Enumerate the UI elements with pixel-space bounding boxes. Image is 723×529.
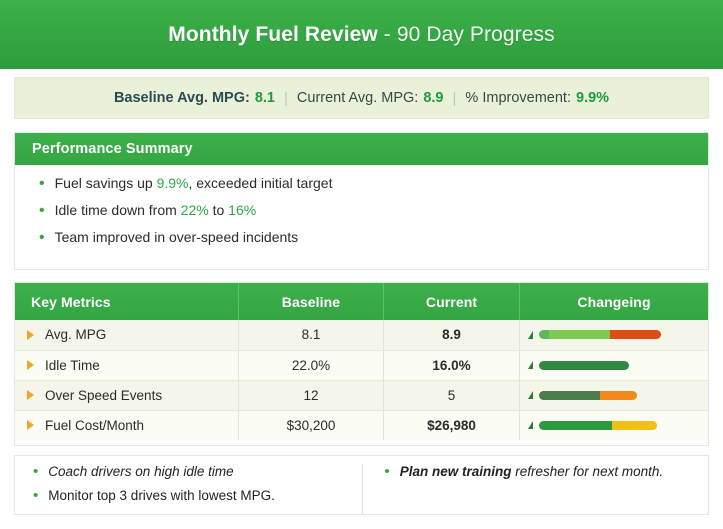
- note-text-rest: refresher for next month.: [512, 464, 664, 479]
- column-header-baseline[interactable]: Baseline: [239, 283, 384, 320]
- table-row: Idle Time 22.0% 16.0%: [15, 350, 708, 380]
- report-header: Monthly Fuel Review - 90 Day Progress: [0, 0, 723, 69]
- bullet-dot-icon: •: [33, 488, 38, 503]
- metric-label: Over Speed Events: [45, 388, 162, 403]
- row-marker-triangle-icon: [27, 330, 34, 340]
- row-current-value: 8.9: [384, 320, 520, 350]
- bullet-dot-icon: •: [39, 176, 45, 192]
- kpi-current-label: Current Avg. MPG:: [297, 90, 418, 106]
- metric-label: Fuel Cost/Month: [45, 418, 144, 433]
- page-title-sub: - 90 Day Progress: [378, 23, 555, 46]
- key-metrics-table: Key Metrics Baseline Current Changeing A…: [15, 283, 708, 440]
- summary-bullet-highlight: 22%: [181, 202, 209, 218]
- row-change-bar: [520, 380, 709, 410]
- row-baseline-value: 22.0%: [239, 350, 384, 380]
- kpi-baseline: Baseline Avg. MPG: 8.1: [114, 90, 275, 106]
- bar-marker-triangle-icon: [528, 361, 533, 369]
- summary-bullet-post: , exceeded initial target: [188, 175, 332, 191]
- kpi-current-value: 8.9: [423, 90, 443, 106]
- row-change-bar: [520, 320, 709, 350]
- kpi-separator-2: |: [453, 90, 457, 107]
- row-marker-triangle-icon: [27, 420, 34, 430]
- notes-column-right: • Plan new training refresher for next m…: [362, 464, 709, 514]
- summary-bullet-mid: to: [209, 202, 228, 218]
- row-metric-name: Over Speed Events: [15, 380, 239, 410]
- kpi-improvement-label: % Improvement:: [465, 90, 571, 106]
- row-marker-triangle-icon: [27, 360, 34, 370]
- kpi-strip: Baseline Avg. MPG: 8.1 | Current Avg. MP…: [14, 77, 709, 119]
- row-current-value: $26,980: [384, 410, 520, 440]
- note-text: Coach drivers on high idle time: [48, 464, 233, 479]
- fuel-review-report: Monthly Fuel Review - 90 Day Progress Ba…: [0, 0, 723, 529]
- summary-bullet-highlight-2: 16%: [228, 202, 256, 218]
- notes-column-left: • Coach drivers on high idle time • Moni…: [15, 464, 362, 514]
- bullet-dot-icon: •: [385, 464, 390, 479]
- kpi-baseline-label: Baseline Avg. MPG:: [114, 90, 250, 106]
- kpi-separator-1: |: [284, 90, 288, 107]
- row-baseline-value: 8.1: [239, 320, 384, 350]
- summary-bullet: • Fuel savings up 9.9%, exceeded initial…: [31, 176, 692, 192]
- kpi-current: Current Avg. MPG: 8.9: [297, 90, 444, 106]
- table-row: Avg. MPG 8.1 8.9: [15, 320, 708, 350]
- bullet-dot-icon: •: [39, 230, 45, 246]
- page-title: Monthly Fuel Review - 90 Day Progress: [168, 23, 554, 47]
- row-current-value: 16.0%: [384, 350, 520, 380]
- table-row: Over Speed Events 12 5: [15, 380, 708, 410]
- note-text: Monitor top 3 drives with lowest MPG.: [48, 488, 275, 503]
- note-text-bold: Plan new training: [400, 464, 512, 479]
- note-item: • Plan new training refresher for next m…: [385, 464, 695, 479]
- row-metric-name: Idle Time: [15, 350, 239, 380]
- table-header-row: Key Metrics Baseline Current Changeing: [15, 283, 708, 320]
- page-title-main: Monthly Fuel Review: [168, 23, 378, 46]
- metric-label: Avg. MPG: [45, 327, 106, 342]
- row-baseline-value: $30,200: [239, 410, 384, 440]
- row-baseline-value: 12: [239, 380, 384, 410]
- row-metric-name: Fuel Cost/Month: [15, 410, 239, 440]
- note-item: • Monitor top 3 drives with lowest MPG.: [33, 488, 348, 503]
- performance-summary-body: • Fuel savings up 9.9%, exceeded initial…: [15, 165, 708, 246]
- row-current-value: 5: [384, 380, 520, 410]
- summary-bullet-pre: Fuel savings up: [55, 175, 157, 191]
- kpi-improvement: % Improvement: 9.9%: [465, 90, 609, 106]
- row-change-bar: [520, 350, 709, 380]
- summary-bullet-highlight: 9.9%: [157, 175, 189, 191]
- note-item: • Coach drivers on high idle time: [33, 464, 348, 479]
- summary-bullet: • Idle time down from 22% to 16%: [31, 203, 692, 219]
- summary-bullet-pre: Idle time down from: [55, 202, 181, 218]
- bar-marker-triangle-icon: [528, 421, 533, 429]
- column-header-changeing[interactable]: Changeing: [520, 283, 709, 320]
- bullet-dot-icon: •: [39, 203, 45, 219]
- row-change-bar: [520, 410, 709, 440]
- row-metric-name: Avg. MPG: [15, 320, 239, 350]
- performance-summary-header: Performance Summary: [15, 133, 708, 165]
- bar-marker-triangle-icon: [528, 331, 533, 339]
- row-marker-triangle-icon: [27, 390, 34, 400]
- key-metrics-card: Key Metrics Baseline Current Changeing A…: [14, 282, 709, 446]
- table-row: Fuel Cost/Month $30,200 $26,980: [15, 410, 708, 440]
- performance-summary-title: Performance Summary: [32, 141, 193, 157]
- bullet-dot-icon: •: [33, 464, 38, 479]
- summary-bullet-pre: Team improved in over-speed incidents: [55, 229, 299, 245]
- kpi-improvement-value: 9.9%: [576, 90, 609, 106]
- summary-bullet: • Team improved in over-speed incidents: [31, 230, 692, 246]
- column-header-current[interactable]: Current: [384, 283, 520, 320]
- kpi-baseline-value: 8.1: [255, 90, 275, 106]
- metric-label: Idle Time: [45, 358, 100, 373]
- column-header-key-metrics[interactable]: Key Metrics: [15, 283, 239, 320]
- bar-marker-triangle-icon: [528, 391, 533, 399]
- performance-summary-card: Performance Summary • Fuel savings up 9.…: [14, 132, 709, 270]
- action-notes-card: • Coach drivers on high idle time • Moni…: [14, 455, 709, 515]
